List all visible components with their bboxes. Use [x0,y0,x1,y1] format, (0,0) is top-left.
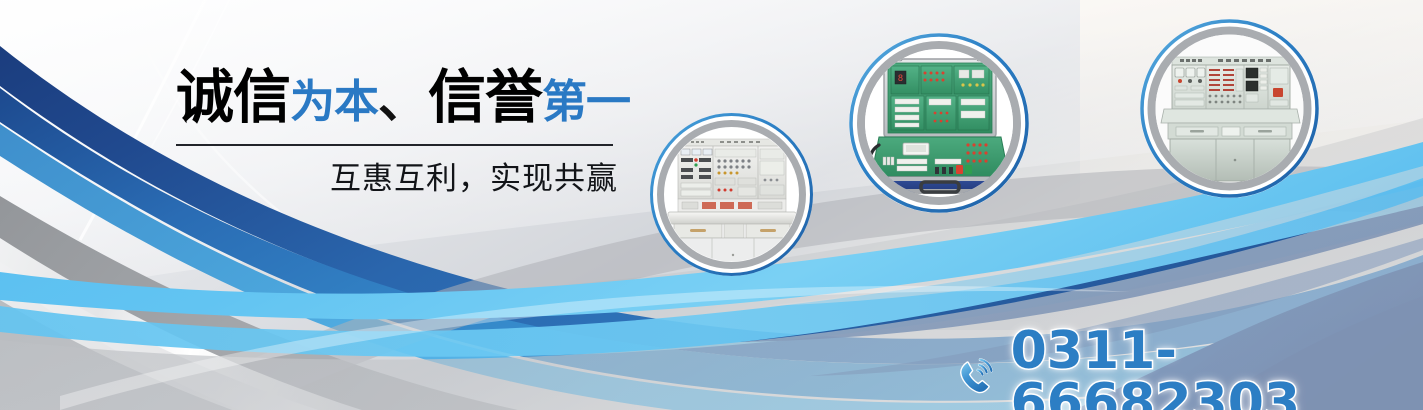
product-image-training-case: 8 [849,33,1029,213]
headline-part-4: 第一 [542,75,630,128]
product-image-workbench [650,113,813,276]
subtitle: 互惠互利，实现共赢 [176,160,618,199]
headline-block: 诚信为本、信誉第一 [176,68,626,126]
headline-divider [176,144,613,146]
headline-part-1: 诚信 [176,63,290,131]
headline-punctuation: 、 [378,71,428,129]
headline-part-3: 信誉 [428,63,542,131]
phone-call-icon [955,354,997,400]
product-circle-left[interactable] [650,113,813,276]
phone-number: 0311-66682303 [1011,325,1423,410]
promotional-banner: 诚信为本、信誉第一 互惠互利，实现共赢 [0,0,1423,410]
page-title: 诚信为本、信誉第一 [176,68,626,126]
contact-phone[interactable]: 0311-66682303 [955,325,1423,410]
product-image-console [1140,19,1319,198]
headline-part-2: 为本 [290,75,378,128]
svg-text:8: 8 [898,74,903,84]
product-circle-center[interactable]: 8 [849,33,1029,213]
product-circle-right[interactable] [1140,19,1319,198]
